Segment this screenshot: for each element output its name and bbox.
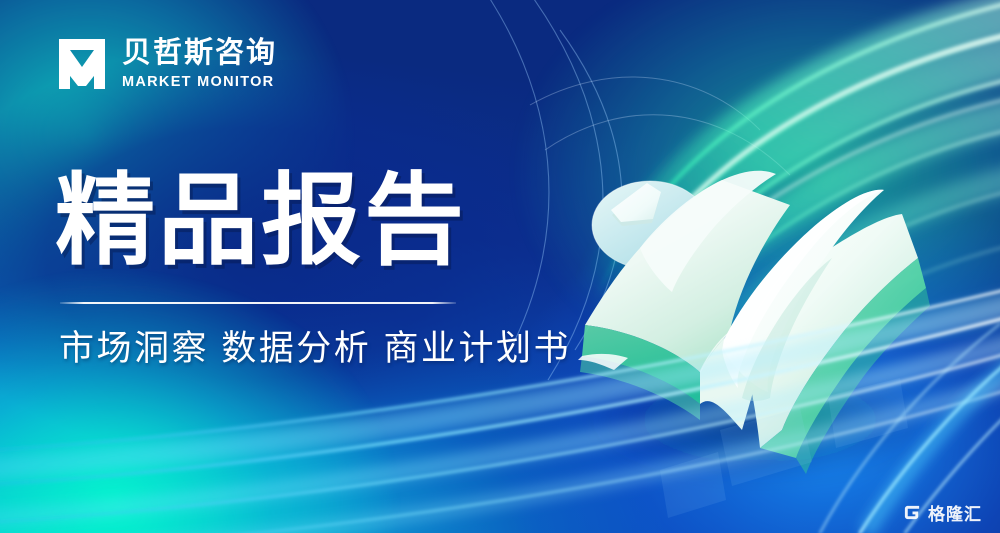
watermark-label: 格隆汇	[928, 500, 982, 525]
poster-canvas: 贝哲斯咨询 MARKET MONITOR 精品报告 市场洞察 数据分析 商业计划…	[0, 0, 1000, 533]
hero-divider	[60, 302, 456, 304]
market-monitor-m-logo-icon	[56, 36, 108, 92]
brand-name-cn: 贝哲斯咨询	[122, 38, 277, 69]
brand-name-en: MARKET MONITOR	[122, 74, 277, 90]
brand-logo[interactable]: 贝哲斯咨询 MARKET MONITOR	[56, 36, 277, 92]
watermark: 格隆汇	[903, 500, 982, 525]
hero-subtitle: 市场洞察 数据分析 商业计划书	[59, 330, 571, 369]
gelonghui-g-logo-icon	[903, 503, 922, 522]
hero-headline: 精品报告	[55, 169, 467, 274]
